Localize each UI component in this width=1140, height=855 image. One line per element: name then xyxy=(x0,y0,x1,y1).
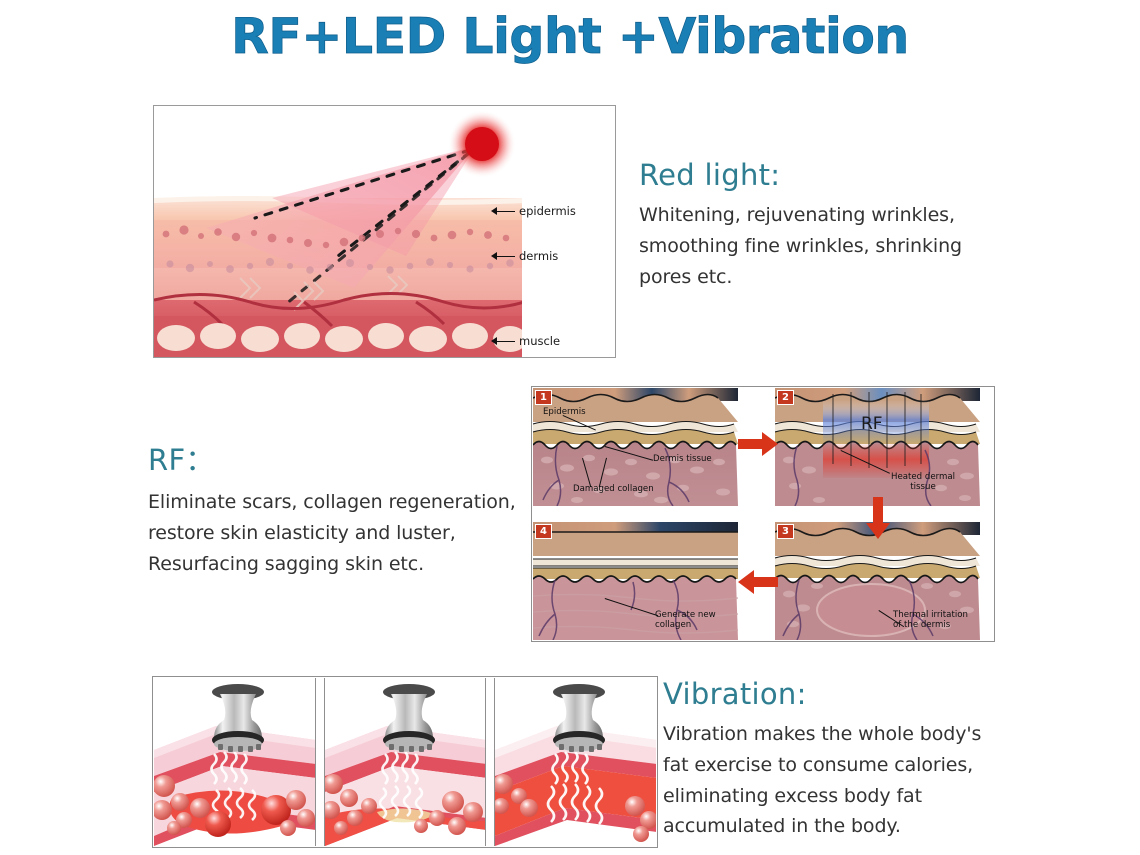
skin-cross-section-panel: epidermis dermis muscle xyxy=(153,105,616,358)
vibration-line-1: Vibration makes the whole body's xyxy=(663,719,1063,750)
red-light-text-block: Red light: Whitening, rejuvenating wrink… xyxy=(639,158,1039,292)
label-dermis: dermis xyxy=(491,249,558,263)
rf-panel-2-number: 2 xyxy=(777,390,794,405)
rf-panel-3: 3 Thermal irritation of the dermis xyxy=(775,522,980,640)
flow-arrow-left-3to4 xyxy=(738,569,778,595)
arrow-left-icon xyxy=(491,337,515,346)
rf-mechanism-diagram: 1 Epidermis Dermis tissue Damaged collag… xyxy=(531,386,995,642)
label-muscle: muscle xyxy=(491,334,560,348)
rf-line-2: restore skin elasticity and luster, xyxy=(148,518,548,549)
rf-panel-4: 4 Generate new collagen xyxy=(533,522,738,640)
vibration-line-2: fat exercise to consume calories, xyxy=(663,750,1063,781)
red-light-line-2: smoothing fine wrinkles, shrinking xyxy=(639,231,1039,262)
rf-caption-damaged-collagen: Damaged collagen xyxy=(573,484,654,494)
red-light-line-1: Whitening, rejuvenating wrinkles, xyxy=(639,200,1039,231)
rf-body: Eliminate scars, collagen regeneration, … xyxy=(148,487,548,579)
rf-caption-generate-new-collagen: Generate new collagen xyxy=(655,610,716,631)
rf-caption-thermal-irritation: Thermal irritation of the dermis xyxy=(893,610,968,631)
flow-arrow-right-1to2 xyxy=(738,431,778,457)
rf-panel-1-number: 1 xyxy=(535,390,552,405)
vibration-diagram xyxy=(152,676,658,848)
rf-caption-dermis-tissue: Dermis tissue xyxy=(653,454,712,464)
vibration-line-3: eliminating excess body fat xyxy=(663,781,1063,812)
vibration-text-block: Vibration: Vibration makes the whole bod… xyxy=(663,677,1063,842)
infographic-page: RF+LED Light +Vibration xyxy=(0,0,1140,855)
red-light-line-3: pores etc. xyxy=(639,262,1039,293)
page-title: RF+LED Light +Vibration xyxy=(0,8,1140,65)
rf-caption-heated-dermal-tissue: Heated dermal tissue xyxy=(891,472,955,493)
skin-layer-labels: epidermis dermis muscle xyxy=(522,106,615,357)
arrow-left-icon xyxy=(491,252,515,261)
vibration-line-4: accumulated in the body. xyxy=(663,811,1063,842)
rf-text-block: RF： Eliminate scars, collagen regenerati… xyxy=(148,437,548,579)
rf-panel-2: 2 RF Heated dermal tissue xyxy=(775,388,980,506)
rf-line-3: Resurfacing sagging skin etc. xyxy=(148,549,548,580)
vibration-panel-2 xyxy=(324,678,486,846)
rf-heading: RF： xyxy=(148,437,548,479)
rf-panel-1: 1 Epidermis Dermis tissue Damaged collag… xyxy=(533,388,738,506)
skin-cross-section-illustration xyxy=(154,106,524,357)
rf-line-1: Eliminate scars, collagen regeneration, xyxy=(148,487,548,518)
vibration-panel-3 xyxy=(494,678,656,846)
vibration-panel-1 xyxy=(154,678,316,846)
rf-panel-4-number: 4 xyxy=(535,524,552,539)
rf-caption-epidermis: Epidermis xyxy=(543,407,586,417)
rf-panel-3-number: 3 xyxy=(777,524,794,539)
red-light-heading: Red light: xyxy=(639,158,1039,192)
flow-arrow-down-2to3 xyxy=(865,497,891,539)
vibration-body: Vibration makes the whole body's fat exe… xyxy=(663,719,1063,842)
rf-caption-rf-label: RF xyxy=(861,414,883,434)
vibration-heading: Vibration: xyxy=(663,677,1063,711)
arrow-left-icon xyxy=(491,207,515,216)
red-light-body: Whitening, rejuvenating wrinkles, smooth… xyxy=(639,200,1039,292)
label-epidermis: epidermis xyxy=(491,204,576,218)
